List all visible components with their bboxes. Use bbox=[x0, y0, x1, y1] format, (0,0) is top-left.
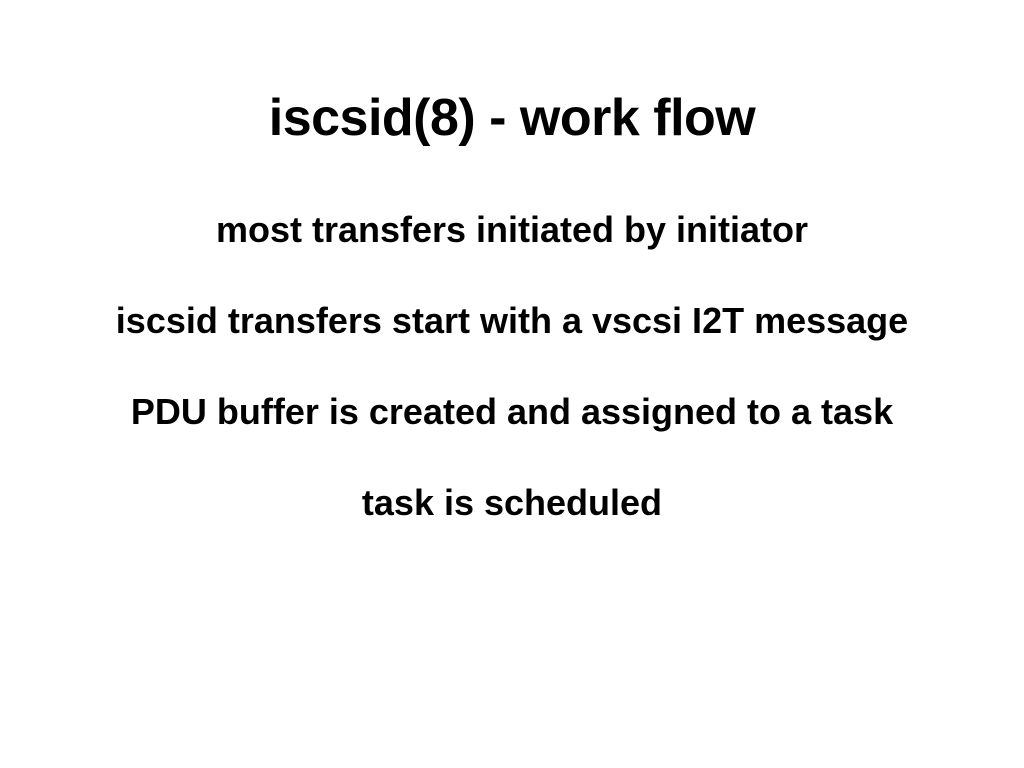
page-title: iscsid(8) - work flow bbox=[0, 90, 1024, 146]
body-line-2: iscsid transfers start with a vscsi I2T … bbox=[0, 303, 1024, 348]
slide: iscsid(8) - work flow most transfers ini… bbox=[0, 0, 1024, 768]
body-line-4: task is scheduled bbox=[0, 485, 1024, 530]
slide-body: most transfers initiated by initiator is… bbox=[0, 212, 1024, 530]
body-line-3: PDU buffer is created and assigned to a … bbox=[0, 394, 1024, 439]
line-spacer bbox=[0, 257, 1024, 303]
line-spacer bbox=[0, 439, 1024, 485]
line-spacer bbox=[0, 348, 1024, 394]
body-line-1: most transfers initiated by initiator bbox=[0, 212, 1024, 257]
